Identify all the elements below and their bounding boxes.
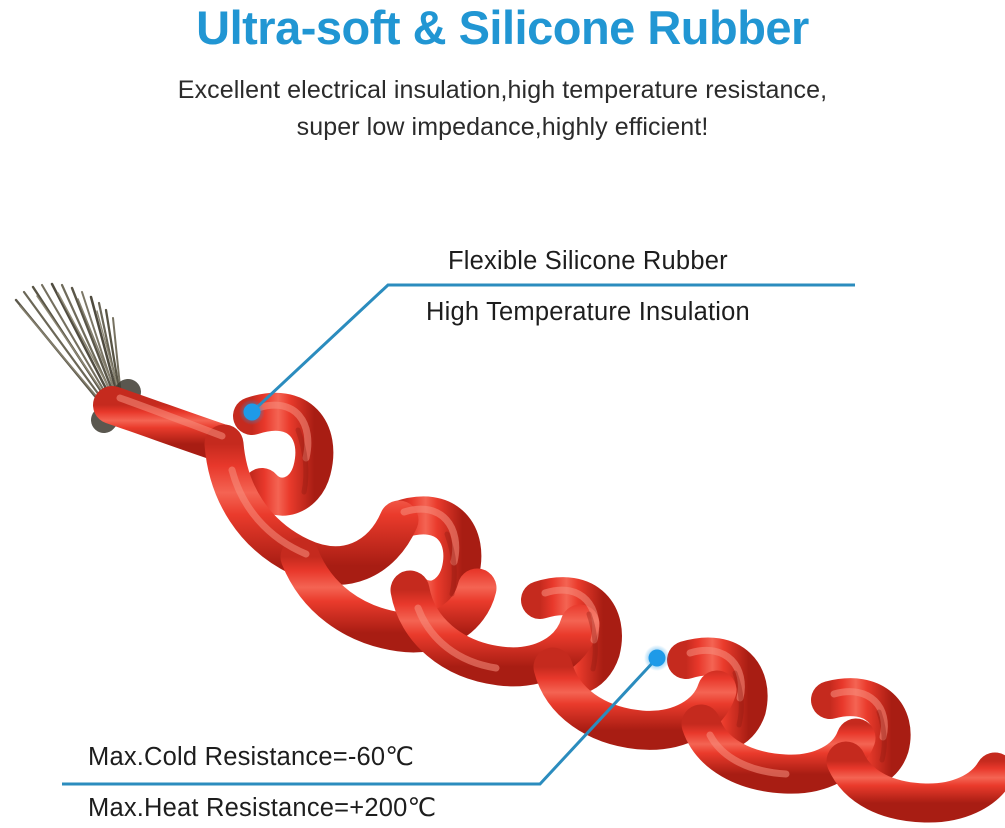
callout-top-marker-dot [244,404,261,421]
callout-high-temperature-insulation: High Temperature Insulation [426,298,750,327]
callout-max-heat-resistance: Max.Heat Resistance=+200℃ [88,793,436,823]
callout-max-cold-resistance: Max.Cold Resistance=-60℃ [88,742,414,772]
product-infographic: Ultra-soft & Silicone Rubber Excellent e… [0,0,1005,828]
product-illustration [0,0,1005,828]
callout-bottom-marker-dot [649,650,666,667]
callout-flexible-silicone-rubber: Flexible Silicone Rubber [448,247,728,276]
